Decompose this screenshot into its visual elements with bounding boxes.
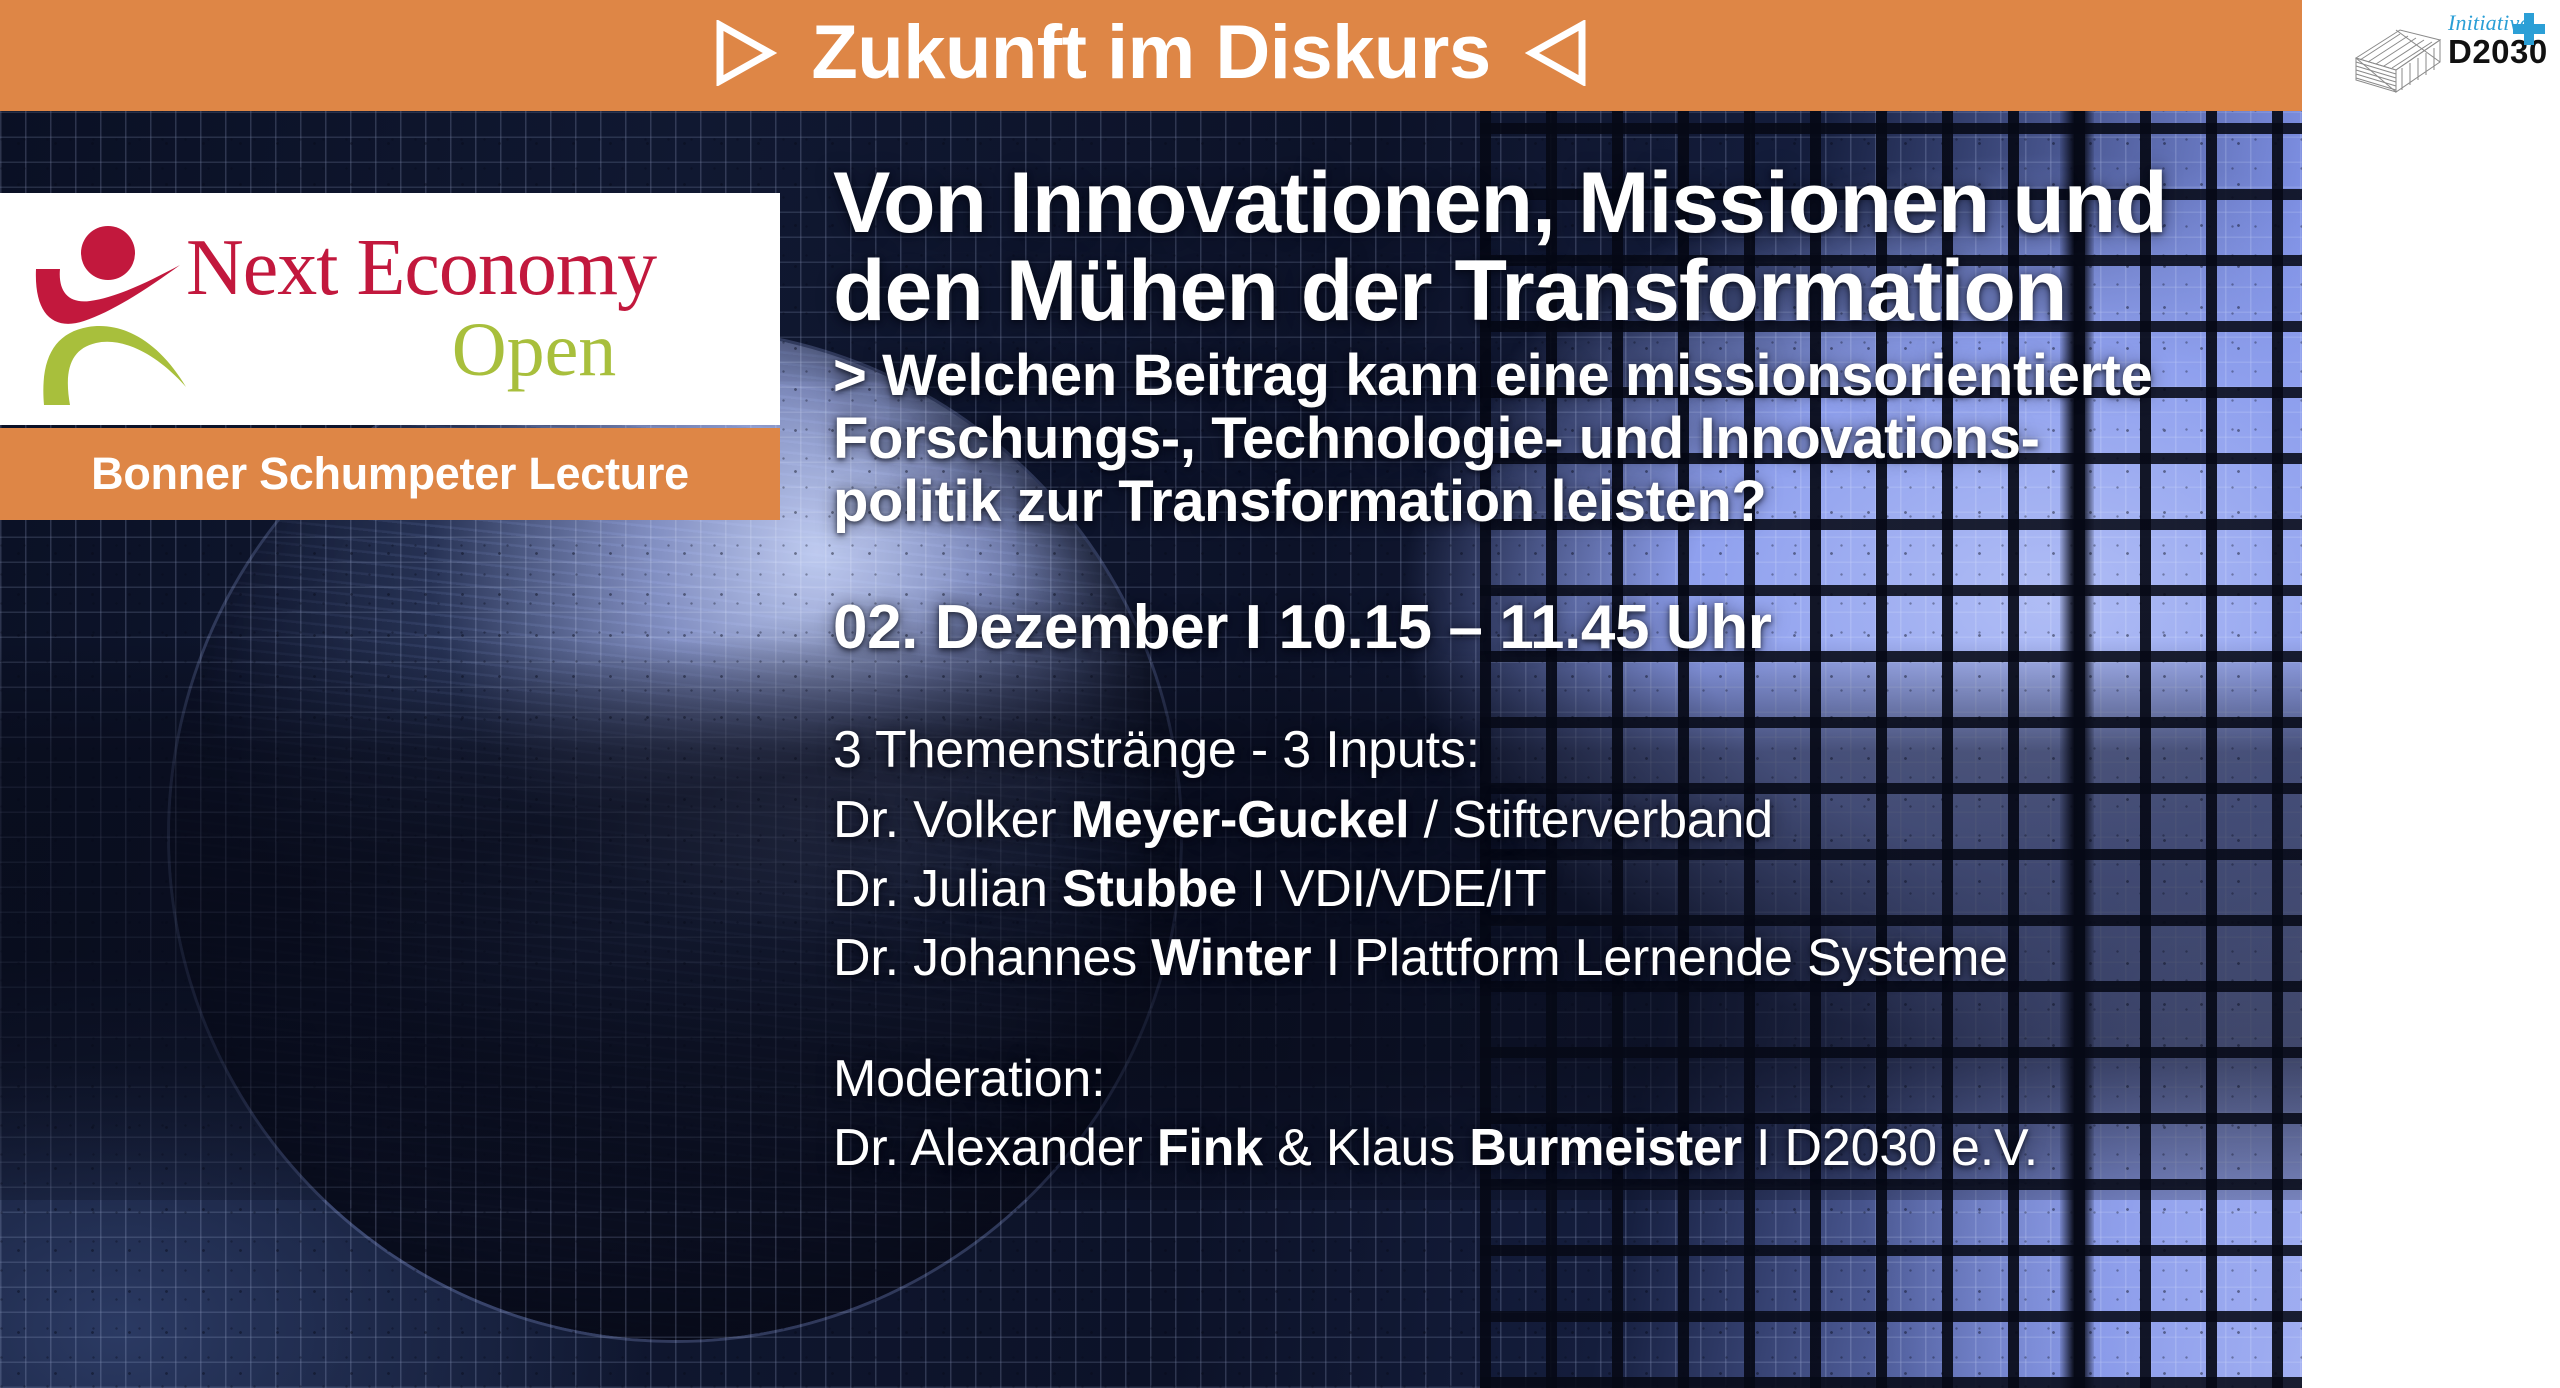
moderator-prefix: Dr. Alexander <box>833 1119 1157 1177</box>
moderation-row: Dr. Alexander Fink & Klaus Burmeister I … <box>833 1114 2302 1183</box>
banner-title: Zukunft im Diskurs <box>811 15 1490 91</box>
subtitle-line-2: Forschungs-, Technologie- und Innovation… <box>833 408 2302 471</box>
speaker-affiliation: I VDI/VDE/IT <box>1237 860 1546 918</box>
speaker-affiliation: / Stifterverband <box>1409 791 1773 849</box>
speaker-row: Dr. Volker Meyer-Guckel / Stifterverband <box>833 786 2302 855</box>
title-line-1: Von Innovationen, Missionen und <box>833 160 2302 248</box>
moderation-heading: Moderation: <box>833 1045 2302 1114</box>
inputs-block: 3 Themenstränge - 3 Inputs: Dr. Volker M… <box>833 716 2302 993</box>
speaker-prefix: Dr. Julian <box>833 860 1062 918</box>
speaker-affiliation: I Plattform Lernende Systeme <box>1311 929 2008 987</box>
text-spacer <box>833 993 2302 1045</box>
speaker-prefix: Dr. Johannes <box>833 929 1151 987</box>
top-banner: Zukunft im Diskurs <box>0 0 2302 111</box>
main-text-column: Von Innovationen, Missionen und den Mühe… <box>833 160 2302 1183</box>
neo-line-open: Open <box>452 312 617 388</box>
date-time-line: 02. Dezember I 10.15 – 11.45 Uhr <box>833 595 2302 660</box>
neo-line-next-economy: Next Economy <box>186 230 656 307</box>
speaker-row: Dr. Julian Stubbe I VDI/VDE/IT <box>833 855 2302 924</box>
subtitle-line-1: > Welchen Beitrag kann eine missionsorie… <box>833 345 2302 408</box>
speaker-prefix: Dr. Volker <box>833 791 1071 849</box>
speaker-name: Meyer-Guckel <box>1071 791 1410 849</box>
next-economy-open-wordmark: Next Economy Open <box>186 230 780 389</box>
plus-icon <box>2510 10 2548 48</box>
moderator-affiliation: I D2030 e.V. <box>1742 1119 2038 1177</box>
slide-canvas: Zukunft im Diskurs Next Economy Open Bon… <box>0 0 2302 1388</box>
inputs-heading: 3 Themenstränge - 3 Inputs: <box>833 716 2302 785</box>
triangle-right-outline-icon <box>713 20 777 91</box>
bonner-schumpeter-lecture-band: Bonner Schumpeter Lecture <box>0 428 780 520</box>
title-line-2: den Mühen der Transformation <box>833 248 2302 336</box>
speaker-row: Dr. Johannes Winter I Plattform Lernende… <box>833 924 2302 993</box>
moderator-conjunction: & Klaus <box>1263 1119 1469 1177</box>
triangle-left-outline-icon <box>1525 20 1589 91</box>
moderation-block: Moderation: Dr. Alexander Fink & Klaus B… <box>833 1045 2302 1183</box>
moderator-name-1: Fink <box>1157 1119 1263 1177</box>
d2030-logo: Initiative D2030 <box>2352 10 2548 106</box>
speaker-name: Stubbe <box>1062 860 1237 918</box>
subtitle-line-3: politik zur Transformation leisten? <box>833 471 2302 534</box>
speaker-name: Winter <box>1151 929 1311 987</box>
lecture-band-label: Bonner Schumpeter Lecture <box>91 448 689 500</box>
running-figure-icon <box>10 209 186 409</box>
wireframe-cube-icon <box>2352 18 2444 106</box>
moderator-name-2: Burmeister <box>1469 1119 1742 1177</box>
next-economy-open-logo: Next Economy Open <box>0 193 780 425</box>
